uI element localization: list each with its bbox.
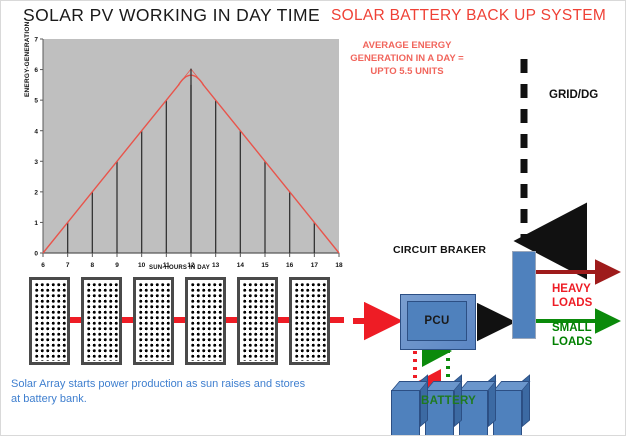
- circuit-breaker-label: CIRCUIT BRAKER: [393, 244, 486, 256]
- heavy-loads-line1: HEAVY: [552, 282, 592, 296]
- small-loads-line2: LOADS: [552, 335, 592, 349]
- small-loads-label: SMALL LOADS: [552, 321, 592, 349]
- battery-cell-face: [391, 390, 420, 436]
- pcu-inner-face: PCU: [407, 301, 467, 341]
- grid-dg-label: GRID/DG: [549, 89, 598, 101]
- heavy-loads-line2: LOADS: [552, 296, 592, 310]
- caption-text: Solar Array starts power production as s…: [11, 377, 311, 407]
- solar-panel: [289, 277, 330, 365]
- battery-bank: [391, 380, 551, 436]
- page-title-left: SOLAR PV WORKING IN DAY TIME: [23, 5, 320, 26]
- chart-x-tick-label: 8: [91, 262, 95, 269]
- chart-y-tick-label: 2: [34, 189, 38, 196]
- solar-panel-cells: [85, 281, 118, 361]
- chart-y-tick-label: 3: [34, 159, 38, 166]
- panel-connector: [330, 317, 344, 323]
- solar-panel: [29, 277, 70, 365]
- chart-x-tick-label: 10: [138, 262, 146, 269]
- chart-y-tick-label: 5: [34, 98, 38, 105]
- solar-panel-cells: [137, 281, 170, 361]
- solar-panel: [185, 277, 226, 365]
- chart-x-tick-label: 14: [237, 262, 245, 269]
- circuit-breaker-block: [512, 251, 536, 339]
- solar-panel-cells: [293, 281, 326, 361]
- solar-panel-cells: [189, 281, 222, 361]
- chart-y-tick-label: 6: [34, 67, 38, 74]
- chart-x-tick-label: 16: [286, 262, 294, 269]
- pcu-block: PCU: [400, 294, 476, 350]
- chart-x-axis-label: SUN-HOURS IN DAY: [149, 265, 210, 271]
- chart-y-tick-label: 0: [34, 251, 38, 258]
- chart-x-tick-label: 7: [66, 262, 70, 269]
- battery-cell: [493, 390, 529, 436]
- chart-y-tick-label: 4: [34, 128, 38, 135]
- heavy-loads-label: HEAVY LOADS: [552, 282, 592, 310]
- solar-panel: [81, 277, 122, 365]
- battery-cell-face: [493, 390, 522, 436]
- chart-x-tick-label: 18: [335, 262, 343, 269]
- chart-y-axis-label: ENERGY-GENERATION: [24, 21, 31, 97]
- chart-y-tick-label: 1: [34, 220, 38, 227]
- battery-label: BATTERY: [421, 395, 476, 407]
- pcu-label: PCU: [424, 315, 449, 327]
- solar-panel: [133, 277, 174, 365]
- chart-x-tick-label: 15: [261, 262, 269, 269]
- chart-x-tick-label: 17: [311, 262, 319, 269]
- chart-y-tick-label: 7: [34, 37, 38, 44]
- solar-panel: [237, 277, 278, 365]
- solar-panel-array: [29, 277, 349, 365]
- page-title-right: SOLAR BATTERY BACK UP SYSTEM: [331, 7, 606, 25]
- solar-generation-chart: 012345676789101112131415161718: [25, 31, 345, 276]
- chart-x-tick-label: 9: [115, 262, 119, 269]
- diagram-canvas: SOLAR PV WORKING IN DAY TIME SOLAR BATTE…: [0, 0, 626, 436]
- small-loads-line1: SMALL: [552, 321, 592, 335]
- chart-svg: 012345676789101112131415161718: [25, 31, 345, 276]
- chart-x-tick-label: 6: [41, 262, 45, 269]
- average-energy-note: AVERAGE ENERGY GENERATION IN A DAY = UPT…: [337, 39, 477, 78]
- solar-panel-cells: [33, 281, 66, 361]
- chart-x-tick-label: 13: [212, 262, 220, 269]
- solar-panel-cells: [241, 281, 274, 361]
